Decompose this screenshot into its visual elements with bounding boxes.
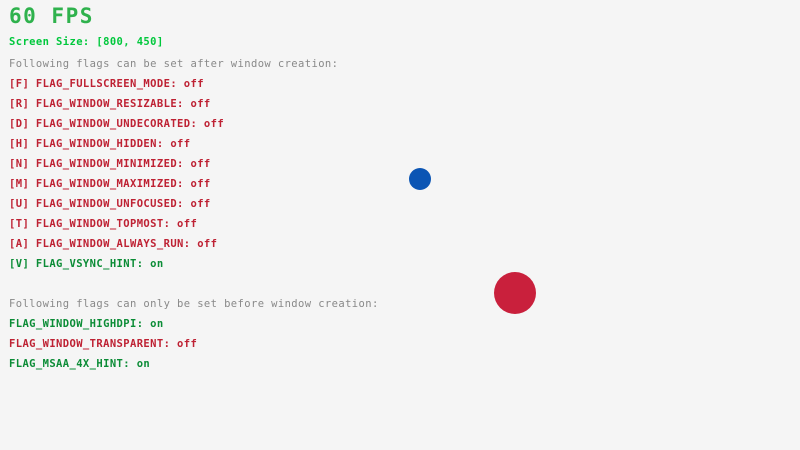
flag-line-flag-window-unfocused[interactable]: [U] FLAG_WINDOW_UNFOCUSED: off [9, 198, 211, 210]
flag-line-flag-vsync-hint[interactable]: [V] FLAG_VSYNC_HINT: on [9, 258, 164, 270]
red-circle [494, 272, 536, 314]
flag-line-flag-msaa-4x-hint[interactable]: FLAG_MSAA_4X_HINT: on [9, 358, 150, 370]
screen-size-label: Screen Size: [800, 450] [9, 36, 164, 48]
flag-line-flag-window-resizable[interactable]: [R] FLAG_WINDOW_RESIZABLE: off [9, 98, 211, 110]
flag-line-flag-window-highdpi[interactable]: FLAG_WINDOW_HIGHDPI: on [9, 318, 164, 330]
flag-line-flag-fullscreen-mode[interactable]: [F] FLAG_FULLSCREEN_MODE: off [9, 78, 204, 90]
flag-line-flag-window-hidden[interactable]: [H] FLAG_WINDOW_HIDDEN: off [9, 138, 190, 150]
flag-line-flag-window-always-run[interactable]: [A] FLAG_WINDOW_ALWAYS_RUN: off [9, 238, 217, 250]
app-window: 60 FPS Screen Size: [800, 450] Following… [0, 0, 800, 450]
flag-line-flag-window-topmost[interactable]: [T] FLAG_WINDOW_TOPMOST: off [9, 218, 197, 230]
section-header-after-creation: Following flags can be set after window … [9, 58, 338, 70]
section-header-before-creation: Following flags can only be set before w… [9, 298, 379, 310]
flag-line-flag-window-maximized[interactable]: [M] FLAG_WINDOW_MAXIMIZED: off [9, 178, 211, 190]
flag-line-flag-window-undecorated[interactable]: [D] FLAG_WINDOW_UNDECORATED: off [9, 118, 224, 130]
blue-circle [409, 168, 431, 190]
fps-counter: 60 FPS [9, 6, 94, 27]
flag-line-flag-window-minimized[interactable]: [N] FLAG_WINDOW_MINIMIZED: off [9, 158, 211, 170]
flag-line-flag-window-transparent[interactable]: FLAG_WINDOW_TRANSPARENT: off [9, 338, 197, 350]
